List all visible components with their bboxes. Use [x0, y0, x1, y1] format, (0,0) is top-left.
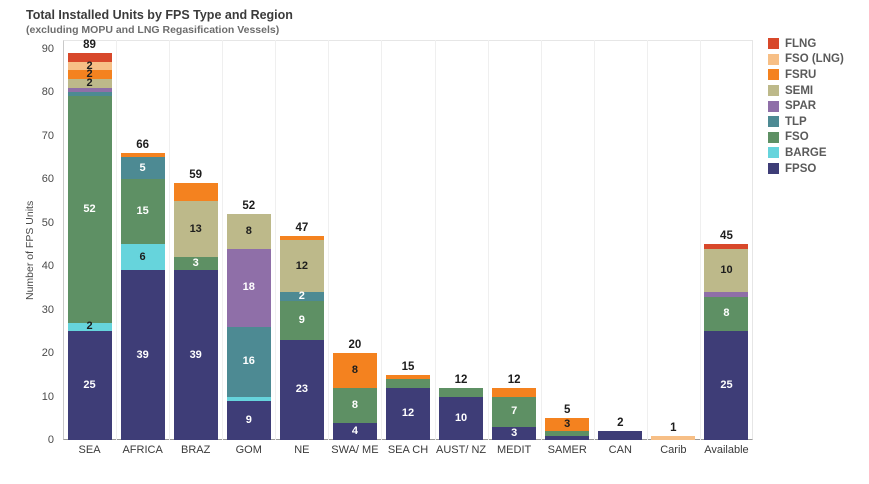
bar-segment[interactable]: 2	[68, 79, 112, 88]
bar-segment[interactable]	[598, 431, 642, 440]
bar-total-label: 52	[227, 200, 271, 212]
category-separator	[381, 40, 382, 440]
bar-segment[interactable]: 25	[704, 331, 748, 440]
bar-segment[interactable]: 2	[68, 70, 112, 79]
bar-segment[interactable]	[545, 436, 589, 440]
bar-segment[interactable]: 8	[227, 214, 271, 249]
bar-segment[interactable]: 9	[280, 301, 324, 340]
bar-total-label: 1	[651, 422, 695, 434]
bar-segment[interactable]: 39	[121, 270, 165, 440]
bar-segment[interactable]: 12	[386, 388, 430, 440]
legend-item-fso[interactable]: FSO	[768, 130, 844, 146]
bar-total-label: 12	[439, 374, 483, 386]
stacked-bar[interactable]: 10	[439, 388, 483, 440]
legend-item-barge[interactable]: BARGE	[768, 145, 844, 161]
legend-color-swatch	[768, 85, 779, 96]
segment-value-label: 10	[455, 413, 467, 424]
category-separator	[700, 40, 701, 440]
chart-title: Total Installed Units by FPS Type and Re…	[26, 8, 293, 23]
legend-label: FPSO	[785, 163, 816, 175]
bar-segment[interactable]	[651, 436, 695, 440]
bar-segment[interactable]: 25	[68, 331, 112, 440]
segment-value-label: 3	[511, 428, 517, 439]
bar-segment[interactable]: 6	[121, 244, 165, 270]
bar-segment[interactable]: 3	[174, 257, 218, 270]
bar-segment[interactable]: 4	[333, 423, 377, 440]
bar-segment[interactable]: 3	[545, 418, 589, 431]
segment-value-label: 4	[352, 426, 358, 437]
stacked-bar[interactable]: 73	[492, 388, 536, 440]
segment-value-label: 23	[296, 384, 308, 395]
bar-segment[interactable]: 2	[280, 292, 324, 301]
bar-segment[interactable]: 7	[492, 397, 536, 427]
bar-segment[interactable]: 16	[227, 327, 271, 397]
legend-color-swatch	[768, 147, 779, 158]
category-separator	[222, 40, 223, 440]
bar-segment[interactable]: 23	[280, 340, 324, 440]
segment-value-label: 3	[193, 258, 199, 269]
legend-item-flng[interactable]: FLNG	[768, 36, 844, 52]
legend-item-fsolng[interactable]: FSO (LNG)	[768, 52, 844, 68]
segment-value-label: 7	[511, 406, 517, 417]
bar-segment[interactable]: 13	[174, 201, 218, 258]
bar-group-africa: 51563966AFRICA	[121, 40, 165, 440]
y-axis-tick: 0	[14, 440, 54, 452]
legend-label: FSO	[785, 131, 809, 143]
bar-group-available: 1082545Available	[704, 40, 748, 440]
segment-value-label: 8	[352, 400, 358, 411]
segment-value-label: 6	[140, 252, 146, 263]
bar-segment[interactable]	[386, 379, 430, 388]
bar-segment[interactable]: 8	[333, 353, 377, 388]
legend-label: SEMI	[785, 85, 813, 97]
bar-total-label: 45	[704, 230, 748, 242]
bar-group-sea: 2225222589SEA	[68, 40, 112, 440]
category-separator	[488, 40, 489, 440]
legend-label: FLNG	[785, 38, 816, 50]
segment-value-label: 12	[402, 408, 414, 419]
segment-value-label: 25	[83, 380, 95, 391]
legend-item-semi[interactable]: SEMI	[768, 83, 844, 99]
bar-total-label: 5	[545, 404, 589, 416]
category-separator	[275, 40, 276, 440]
bar-total-label: 66	[121, 139, 165, 151]
bar-segment[interactable]	[439, 388, 483, 397]
segment-value-label: 39	[136, 350, 148, 361]
stacked-bar[interactable]: 10825	[704, 244, 748, 440]
bar-segment[interactable]	[492, 388, 536, 397]
bar-group-swame: 88420SWA/ ME	[333, 40, 377, 440]
stacked-bar[interactable]: 22252225	[68, 53, 112, 440]
segment-value-label: 8	[246, 226, 252, 237]
bar-segment[interactable]: 2	[68, 323, 112, 332]
chart-page: Total Installed Units by FPS Type and Re…	[0, 0, 869, 484]
bar-segment[interactable]: 12	[280, 240, 324, 292]
segment-value-label: 12	[296, 261, 308, 272]
legend-item-fpso[interactable]: FPSO	[768, 161, 844, 177]
bar-group-ne: 12292347NE	[280, 40, 324, 440]
legend-color-swatch	[768, 116, 779, 127]
segment-value-label: 13	[190, 224, 202, 235]
y-axis-tick: 20	[14, 353, 54, 365]
stacked-bar[interactable]	[651, 436, 695, 440]
bar-group-seach: 1215SEA CH	[386, 40, 430, 440]
stacked-bar[interactable]: 122923	[280, 236, 324, 440]
stacked-bar[interactable]: 818169	[227, 214, 271, 440]
stacked-bar[interactable]: 12	[386, 375, 430, 440]
legend-item-fsru[interactable]: FSRU	[768, 67, 844, 83]
bars-container: 2225222589SEA51563966AFRICA1333959BRAZ81…	[63, 40, 753, 440]
bar-segment[interactable]: 10	[704, 249, 748, 292]
bar-total-label: 20	[333, 339, 377, 351]
stacked-bar[interactable]: 13339	[174, 183, 218, 440]
bar-segment[interactable]: 8	[333, 388, 377, 423]
category-separator	[541, 40, 542, 440]
bar-segment[interactable]: 39	[174, 270, 218, 440]
y-axis-tick: 10	[14, 397, 54, 409]
y-axis-title: Number of FPS Units	[24, 201, 36, 300]
stacked-bar[interactable]	[598, 431, 642, 440]
bar-segment[interactable]	[68, 53, 112, 62]
category-separator	[116, 40, 117, 440]
segment-value-label: 15	[136, 206, 148, 217]
segment-value-label: 5	[140, 163, 146, 174]
stacked-bar[interactable]: 884	[333, 353, 377, 440]
segment-value-label: 39	[190, 350, 202, 361]
legend-label: BARGE	[785, 147, 827, 159]
y-axis-tick: 70	[14, 136, 54, 148]
category-separator	[328, 40, 329, 440]
bar-segment[interactable]: 10	[439, 397, 483, 440]
legend-label: SPAR	[785, 100, 816, 112]
bar-segment[interactable]: 5	[121, 157, 165, 179]
x-axis-tick-label: Available	[690, 444, 763, 456]
legend-item-tlp[interactable]: TLP	[768, 114, 844, 130]
bar-segment[interactable]: 8	[704, 297, 748, 332]
bar-total-label: 59	[174, 169, 218, 181]
segment-value-label: 3	[564, 419, 570, 430]
legend-label: TLP	[785, 116, 807, 128]
chart-header: Total Installed Units by FPS Type and Re…	[26, 8, 293, 37]
segment-value-label: 18	[243, 282, 255, 293]
bar-segment[interactable]	[174, 183, 218, 200]
category-separator	[435, 40, 436, 440]
legend-item-spar[interactable]: SPAR	[768, 98, 844, 114]
segment-value-label: 9	[246, 415, 252, 426]
segment-value-label: 16	[243, 356, 255, 367]
segment-value-label: 10	[720, 265, 732, 276]
bar-group-gom: 81816952GOM	[227, 40, 271, 440]
bar-total-label: 15	[386, 361, 430, 373]
bar-group-carib: 1Carib	[651, 40, 695, 440]
legend: FLNGFSO (LNG)FSRUSEMISPARTLPFSOBARGEFPSO	[768, 36, 844, 176]
bar-total-label: 2	[598, 417, 642, 429]
category-separator	[169, 40, 170, 440]
bar-total-label: 12	[492, 374, 536, 386]
y-axis-tick: 80	[14, 92, 54, 104]
category-separator	[647, 40, 648, 440]
legend-color-swatch	[768, 101, 779, 112]
y-axis-tick: 30	[14, 310, 54, 322]
legend-color-swatch	[768, 38, 779, 49]
segment-value-label: 25	[720, 380, 732, 391]
bar-segment[interactable]: 18	[227, 249, 271, 327]
bar-segment[interactable]: 15	[121, 179, 165, 244]
bar-total-label: 47	[280, 222, 324, 234]
chart-subtitle: (excluding MOPU and LNG Regasification V…	[26, 23, 293, 37]
segment-value-label: 9	[299, 315, 305, 326]
bar-group-medit: 7312MEDIT	[492, 40, 536, 440]
legend-color-swatch	[768, 163, 779, 174]
segment-value-label: 8	[723, 308, 729, 319]
bar-group-austnz: 1012AUST/ NZ	[439, 40, 483, 440]
segment-value-label: 52	[83, 204, 95, 215]
y-axis-tick: 90	[14, 49, 54, 61]
y-axis-tick: 60	[14, 179, 54, 191]
bar-segment[interactable]: 9	[227, 401, 271, 440]
legend-label: FSRU	[785, 69, 816, 81]
legend-color-swatch	[768, 132, 779, 143]
stacked-bar[interactable]: 3	[545, 418, 589, 440]
bar-group-can: 2CAN	[598, 40, 642, 440]
legend-color-swatch	[768, 54, 779, 65]
legend-label: FSO (LNG)	[785, 53, 844, 65]
bar-group-braz: 1333959BRAZ	[174, 40, 218, 440]
bar-segment[interactable]: 3	[492, 427, 536, 440]
stacked-bar[interactable]: 515639	[121, 153, 165, 440]
segment-value-label: 8	[352, 365, 358, 376]
legend-color-swatch	[768, 69, 779, 80]
bar-segment[interactable]: 2	[68, 62, 112, 71]
bar-total-label: 89	[68, 39, 112, 51]
bar-segment[interactable]: 52	[68, 96, 112, 322]
category-separator	[594, 40, 595, 440]
bar-group-samer: 35SAMER	[545, 40, 589, 440]
